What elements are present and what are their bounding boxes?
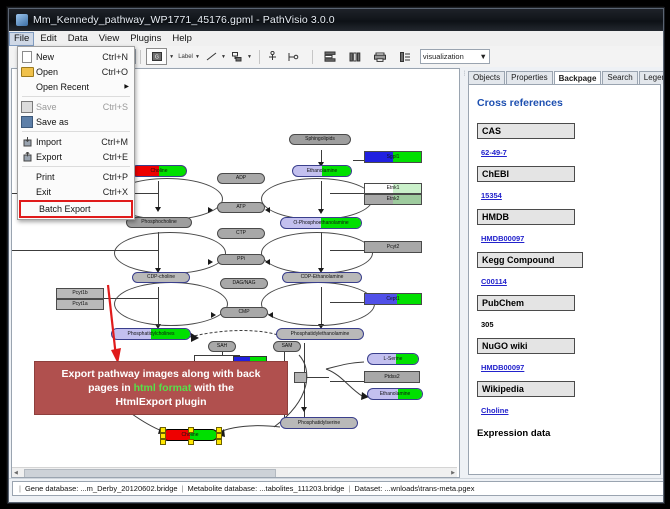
tab-properties[interactable]: Properties [506, 71, 552, 84]
status-bar: | Gene database: ...m_Derby_20120602.bri… [9, 478, 663, 502]
node-phosphatidylcholines[interactable]: Phosphatidylcholines [111, 328, 191, 340]
tab-legend[interactable]: Legend [639, 71, 664, 84]
node-o-phosphoethanolamine[interactable]: O-Phosphoethanolamine [280, 217, 362, 229]
menu-file[interactable]: File [9, 32, 34, 46]
save-icon [18, 101, 36, 113]
file-menu-item-export[interactable]: Export Ctrl+E [18, 149, 134, 164]
status-bar-inner: | Gene database: ...m_Derby_20120602.bri… [12, 481, 664, 496]
node-label: Phosphatidylcholines [128, 332, 175, 337]
file-menu-accel: Ctrl+S [103, 102, 134, 112]
arrow-left-ppi-r [265, 259, 270, 265]
file-menu-label: Open [36, 67, 102, 77]
xref-value-wikipedia[interactable]: Choline [481, 406, 509, 415]
node-phosphatidylserine[interactable]: Phosphatidylserine [280, 417, 358, 429]
node-ethanolamine-top[interactable]: Ethanolamine [292, 165, 352, 177]
xref-value-kegg[interactable]: C00114 [481, 277, 507, 286]
xref-label-wikipedia: Wikipedia [477, 381, 575, 397]
node-label: CTP [236, 231, 246, 236]
arrow-down-ps [301, 407, 307, 412]
stack-tool-icon[interactable] [348, 49, 363, 64]
import-icon [18, 137, 36, 147]
callout-line2-after: with the [191, 382, 234, 394]
arrow-left-atp-r [265, 207, 270, 213]
screenshot-frame: Mm_Kennedy_pathway_WP1771_45176.gpml - P… [0, 0, 670, 509]
loop-ctp-ppi-right [261, 232, 373, 274]
node-phosphatidylethanolamine[interactable]: Phosphatidylethanolamine [276, 328, 364, 340]
align-tool-icon[interactable] [323, 49, 338, 64]
folder-open-icon [18, 67, 36, 77]
file-menu-item-open[interactable]: Open Ctrl+O [18, 64, 134, 79]
node-atp[interactable]: ATP [217, 202, 265, 213]
node-label: Phosphatidylethanolamine [291, 332, 350, 337]
tab-backpage[interactable]: Backpage [554, 71, 602, 85]
node-label: PPi [237, 257, 245, 262]
file-menu-label: New [36, 52, 102, 62]
scroll-right-icon[interactable]: ▶ [449, 470, 457, 476]
node-label: Ethanolamine [380, 392, 411, 397]
loop-dag-cmp-right [261, 282, 375, 326]
save-as-icon [18, 116, 36, 128]
file-menu-label: Exit [36, 187, 103, 197]
node-ppi[interactable]: PPi [217, 254, 265, 265]
gene-pcyt1a[interactable]: Pcyt1a [56, 299, 104, 310]
selection-handle[interactable] [188, 427, 194, 433]
file-menu-accel: Ctrl+E [103, 152, 134, 162]
status-gene-database: Gene database: ...m_Derby_20120602.bridg… [25, 484, 178, 493]
line-tool-icon[interactable] [204, 49, 219, 64]
node-dag-nag[interactable]: DAG/NAG [220, 278, 268, 289]
node-l-serine[interactable]: L-Serine [367, 353, 419, 365]
file-menu-separator-2 [22, 131, 130, 132]
node-adp[interactable]: ADP [217, 173, 265, 184]
file-menu-accel: Ctrl+M [101, 137, 134, 147]
edge-anchor-stub [307, 377, 329, 378]
tab-objects[interactable]: Objects [468, 71, 505, 84]
node-label: Choline [182, 433, 199, 438]
gene-ptdss2[interactable]: Ptdss2 [364, 371, 420, 383]
node-label: ATP [236, 205, 245, 210]
chevron-right-icon: ▶ [124, 83, 134, 90]
file-menu-label: Import [36, 137, 101, 147]
dock-tabs: Objects Properties Backpage Search Legen… [468, 70, 661, 84]
file-menu-label: Batch Export [39, 204, 131, 214]
file-menu-item-import[interactable]: Import Ctrl+M [18, 134, 134, 149]
file-menu-item-batch-export[interactable]: Batch Export [19, 200, 133, 218]
reaction-anchor-box[interactable] [294, 372, 307, 383]
gene-label: Etnk1 [387, 186, 400, 191]
callout-line-3: HtmlExport plugin [116, 395, 207, 409]
scroll-left-icon[interactable]: ◀ [12, 470, 20, 476]
label-tool-label[interactable]: Label [178, 49, 193, 64]
title-bar: Mm_Kennedy_pathway_WP1771_45176.gpml - P… [9, 9, 663, 31]
right-dock: ⋮ Objects Properties Backpage Search Leg… [461, 68, 661, 476]
arrow-right-atp-l [208, 207, 213, 213]
node-label: DAG/NAG [232, 281, 255, 286]
anchor-tool-icon[interactable] [265, 49, 280, 64]
genenode-dropdown-icon[interactable]: ▼ [169, 54, 174, 60]
expression-data-heading: Expression data [477, 428, 652, 439]
app-icon [16, 14, 28, 26]
status-divider-2: | [348, 484, 350, 493]
node-sphingolipids[interactable]: Sphingolipids [289, 134, 351, 145]
gene-label: Cept1 [386, 297, 399, 302]
edge-pcyt1-stub [12, 250, 158, 251]
file-menu-item-open-recent[interactable]: Open Recent ▶ [18, 79, 134, 94]
window-title: Mm_Kennedy_pathway_WP1771_45176.gpml - P… [33, 14, 335, 26]
menu-edit[interactable]: Edit [35, 32, 61, 46]
menu-view[interactable]: View [94, 32, 124, 46]
callout-highlight: html format [134, 382, 192, 394]
callout-line-1: Export pathway images along with back [62, 367, 261, 381]
xref-label-chebi: ChEBI [477, 166, 575, 182]
menu-bar: File Edit Data View Plugins Help [9, 31, 663, 47]
xref-value-chebi[interactable]: 15354 [481, 191, 502, 200]
interaction-tool-icon[interactable] [230, 49, 245, 64]
new-page-icon [18, 51, 36, 63]
node-label: SAM [282, 344, 293, 349]
file-menu-label: Export [36, 152, 103, 162]
node-label: Ethanolamine [307, 169, 338, 174]
pathvisio-window: Mm_Kennedy_pathway_WP1771_45176.gpml - P… [8, 8, 664, 503]
node-label: Sphingolipids [305, 137, 335, 142]
menu-plugins[interactable]: Plugins [125, 32, 166, 46]
node-ethanolamine-bottom[interactable]: Ethanolamine [367, 388, 423, 400]
xref-label-hmdb: HMDB [477, 209, 575, 225]
file-menu-accel: Ctrl+P [103, 172, 134, 182]
gene-pcyt1b[interactable]: Pcyt1b [56, 288, 104, 299]
node-label: Choline [151, 169, 168, 174]
xref-label-cas: CAS [477, 123, 575, 139]
arrow-right-ppi-l [208, 259, 213, 265]
tab-search[interactable]: Search [602, 71, 637, 84]
annotation-callout: Export pathway images along with back pa… [34, 361, 288, 415]
status-divider-0: | [19, 484, 21, 493]
menu-data[interactable]: Data [63, 32, 93, 46]
xref-label-pubchem: PubChem [477, 295, 575, 311]
node-label: CDP-choline [147, 275, 175, 280]
node-label: L-Serine [384, 357, 403, 362]
file-menu-label: Print [36, 172, 103, 182]
arrow-right-cmp-l [211, 312, 216, 318]
node-label: ADP [236, 176, 246, 181]
file-menu-separator-1 [22, 96, 130, 97]
xref-value-hmdb[interactable]: HMDB00097 [481, 234, 524, 243]
line-dropdown-icon[interactable]: ▼ [221, 54, 226, 60]
backpage-content: Cross references CAS 62-49-7 ChEBI 15354… [477, 91, 652, 439]
xref-value-pubchem: 305 [481, 320, 494, 329]
export-icon [18, 152, 36, 162]
node-label: Phosphatidylserine [298, 421, 340, 426]
interaction-dropdown-icon[interactable]: ▼ [247, 54, 252, 60]
file-menu-accel: Ctrl+X [103, 187, 134, 197]
gene-label: Sgpl1 [387, 155, 400, 160]
file-menu-label: Save [36, 102, 103, 112]
arrow-left-cmp-r [268, 312, 273, 318]
node-cmp[interactable]: CMP [220, 307, 268, 318]
status-dataset: Dataset: ...wnloads\trans-meta.pgex [354, 484, 474, 493]
loop-dag-cmp-left [114, 282, 228, 326]
receptor-tool-icon[interactable] [286, 49, 301, 64]
node-sam[interactable]: SAM [273, 341, 301, 352]
loop-ctp-ppi-left [114, 232, 226, 274]
toolbar-divider-2 [259, 50, 260, 64]
node-phosphocholine[interactable]: Phosphocholine [126, 217, 192, 228]
visualization-combo[interactable]: visualization ▼ [420, 49, 490, 64]
gene-sgpl1[interactable]: Sgpl1 [364, 151, 422, 163]
canvas-hscrollbar[interactable]: ◀ ▶ [12, 467, 457, 477]
expr-fill-right [397, 294, 421, 304]
file-menu-item-print[interactable]: Print Ctrl+P [18, 169, 134, 184]
cross-references-heading: Cross references [477, 97, 652, 109]
visualization-value: visualization [423, 52, 464, 61]
file-menu-item-save-as[interactable]: Save as [18, 114, 134, 129]
file-menu-item-save: Save Ctrl+S [18, 99, 134, 114]
dock-grip[interactable]: ⋮ [461, 68, 468, 478]
label-dropdown-icon[interactable]: ▼ [195, 54, 200, 60]
node-cdp-choline[interactable]: CDP-choline [132, 272, 190, 283]
gene-pcyt2[interactable]: Pcyt2 [364, 241, 422, 253]
gene-cept1[interactable]: Cept1 [364, 293, 422, 305]
chevron-down-icon-2: ▼ [479, 52, 486, 61]
menu-help[interactable]: Help [167, 32, 197, 46]
toolbar-divider-3 [312, 50, 313, 64]
file-menu-accel: Ctrl+O [102, 67, 134, 77]
svg-text:G: G [155, 55, 159, 61]
status-divider-1: | [182, 484, 184, 493]
xref-value-cas[interactable]: 62-49-7 [481, 148, 507, 157]
node-label: O-Phosphoethanolamine [293, 221, 348, 226]
xref-label-nugo: NuGO wiki [477, 338, 575, 354]
file-menu-separator-3 [22, 166, 130, 167]
node-cdp-ethanolamine[interactable]: CDP-Ethanolamine [282, 272, 362, 283]
xref-value-nugo[interactable]: HMDB00097 [481, 363, 524, 372]
file-menu-accel: Ctrl+N [102, 52, 134, 62]
genenode-tool-icon[interactable]: G [146, 48, 167, 65]
gene-label: Ptdss2 [384, 375, 399, 380]
backpage-panel[interactable]: Cross references CAS 62-49-7 ChEBI 15354… [468, 84, 661, 475]
node-label: CDP-Ethanolamine [301, 275, 344, 280]
gene-label: Etnk2 [387, 197, 400, 202]
file-menu-item-exit[interactable]: Exit Ctrl+X [18, 184, 134, 199]
selection-handle[interactable] [160, 439, 166, 445]
hscroll-thumb[interactable] [24, 469, 276, 478]
gene-label: Pcyt2 [387, 245, 400, 250]
node-label: CMP [238, 310, 249, 315]
node-label: SAH [217, 344, 227, 349]
gene-etnk2[interactable]: Etnk2 [364, 194, 422, 205]
file-menu-item-new[interactable]: New Ctrl+N [18, 49, 134, 64]
file-menu-popup[interactable]: New Ctrl+N Open Ctrl+O Open Recent ▶ Sav… [17, 46, 135, 220]
gene-label: Pcyt1a [72, 302, 87, 307]
node-sah[interactable]: SAH [208, 341, 236, 352]
selection-handle[interactable] [188, 439, 194, 445]
print-tool-icon[interactable] [373, 49, 388, 64]
status-metabolite-database: Metabolite database: ...tabolites_111203… [188, 484, 345, 493]
file-menu-label: Open Recent [36, 82, 124, 92]
edge-pcyt1-link [102, 298, 158, 299]
callout-line-2: pages in html format with the [88, 381, 234, 395]
legend-tool-icon[interactable] [398, 49, 413, 64]
xref-label-kegg: Kegg Compound [477, 252, 583, 268]
node-ctp[interactable]: CTP [217, 228, 265, 239]
gene-etnk1[interactable]: Etnk1 [364, 183, 422, 194]
node-choline-top[interactable]: Choline [131, 165, 187, 177]
gene-label: Pcyt1b [72, 291, 87, 296]
toolbar-divider [140, 50, 141, 64]
loop-adp-atp-right [261, 178, 373, 220]
node-label: Phosphocholine [141, 220, 177, 225]
file-menu-label: Save as [36, 117, 128, 127]
selection-handle[interactable] [216, 439, 222, 445]
callout-line2-before: pages in [88, 382, 134, 394]
